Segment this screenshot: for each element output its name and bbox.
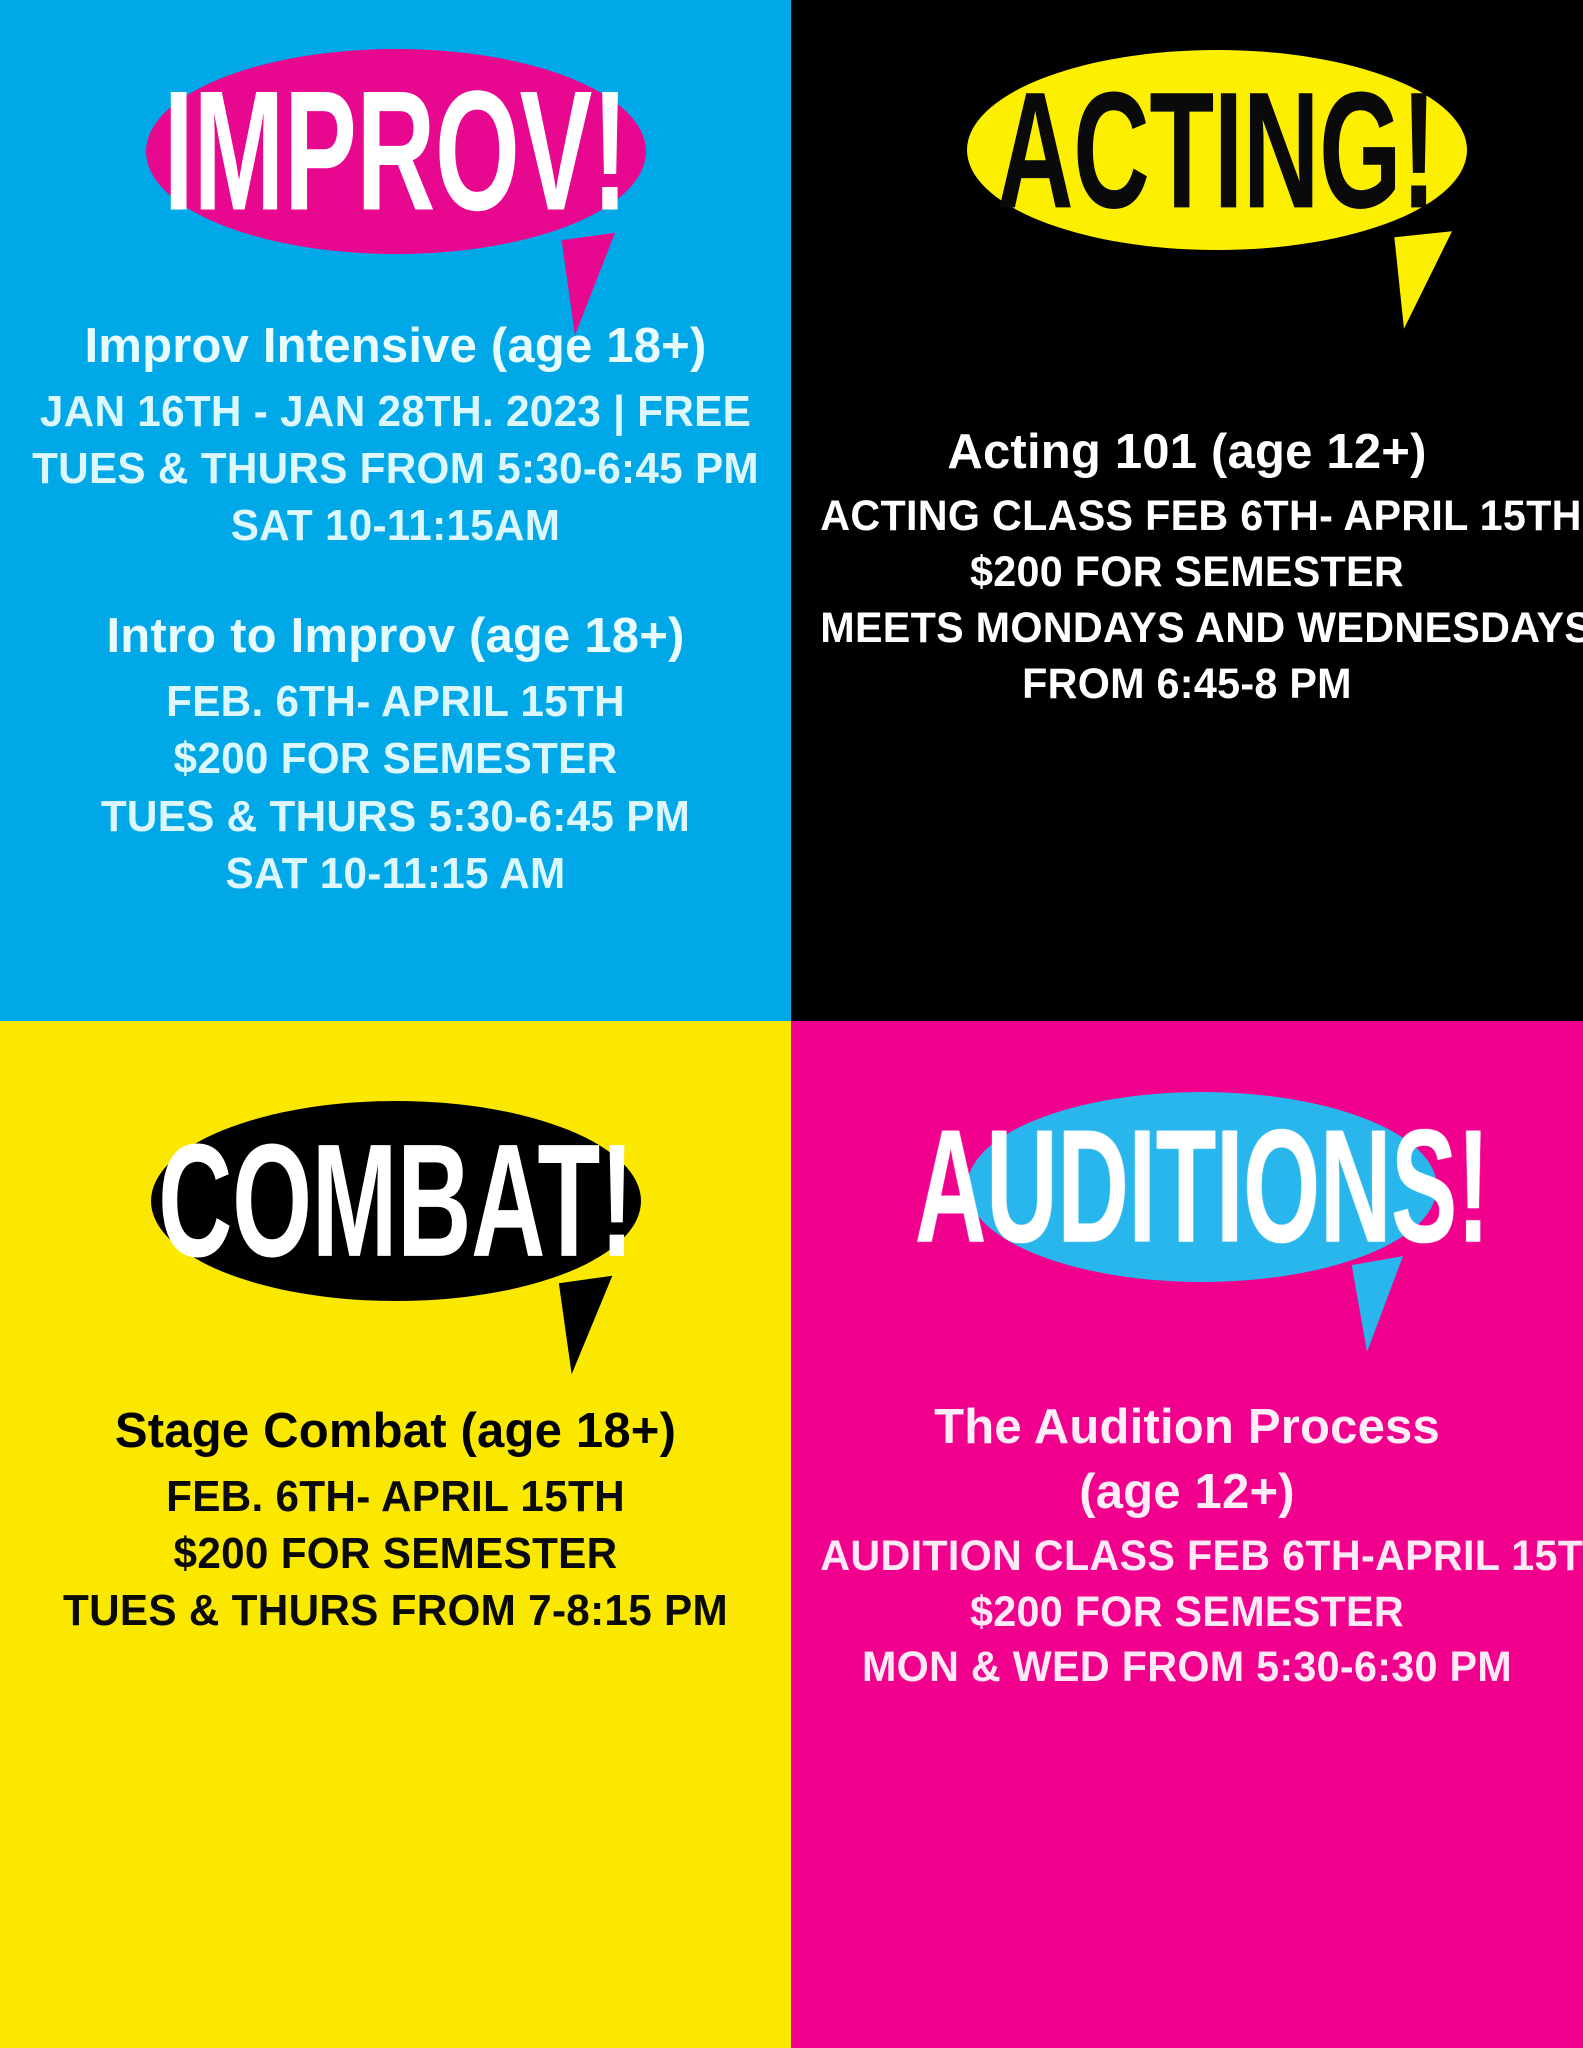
course-detail-line: FEB. 6TH- APRIL 15TH [29,673,761,730]
improv-course-list: Improv Intensive (age 18+) JAN 16TH - JA… [0,318,791,902]
auditions-headline: AUDITIONS! [915,1106,1490,1267]
course-detail-line: TUES & THURS FROM 5:30-6:45 PM [29,440,761,497]
acting-bubble-area: ACTING! [791,30,1583,270]
auditions-bubble-area: AUDITIONS! [791,1067,1583,1307]
course-title: Stage Combat (age 18+) [14,1403,777,1460]
course-improv-intensive: Improv Intensive (age 18+) JAN 16TH - JA… [14,318,777,554]
course-detail-line: ACTING CLASS FEB 6TH- APRIL 15TH [820,489,1553,545]
acting-course-list: Acting 101 (age 12+) ACTING CLASS FEB 6T… [791,424,1583,712]
speech-bubble-tail-icon [1394,231,1461,329]
course-detail-line: AUDITION CLASS FEB 6TH-APRIL 15TH [820,1529,1553,1585]
improv-headline: IMPROV! [163,66,627,237]
combat-headline: COMBAT! [158,1120,634,1281]
course-acting-101: Acting 101 (age 12+) ACTING CLASS FEB 6T… [805,424,1569,712]
course-title: Intro to Improv (age 18+) [14,608,777,665]
course-audition-process: The Audition Process (age 12+) AUDITION … [805,1399,1569,1696]
quadrant-auditions: AUDITIONS! The Audition Process (age 12+… [791,1021,1583,2048]
course-detail-line: SAT 10-11:15 AM [29,845,761,902]
combat-course-list: Stage Combat (age 18+) FEB. 6TH- APRIL 1… [0,1403,791,1639]
course-detail-line: FROM 6:45-8 PM [820,657,1553,713]
course-title: The Audition Process [805,1399,1569,1456]
course-detail-line: SAT 10-11:15AM [29,497,761,554]
quadrant-improv: IMPROV! Improv Intensive (age 18+) JAN 1… [0,0,791,1021]
course-detail-line: $200 FOR SEMESTER [29,1525,761,1582]
speech-bubble-tail-icon [558,1276,624,1375]
improv-bubble-area: IMPROV! [0,36,791,266]
course-detail-line: TUES & THURS 5:30-6:45 PM [29,788,761,845]
course-stage-combat: Stage Combat (age 18+) FEB. 6TH- APRIL 1… [14,1403,777,1639]
quadrant-combat: COMBAT! Stage Combat (age 18+) FEB. 6TH-… [0,1021,791,2048]
course-intro-to-improv: Intro to Improv (age 18+) FEB. 6TH- APRI… [14,608,777,902]
acting-headline: ACTING! [997,67,1436,233]
course-detail-line: $200 FOR SEMESTER [29,730,761,787]
auditions-course-list: The Audition Process (age 12+) AUDITION … [791,1399,1583,1696]
course-detail-line: MEETS MONDAYS AND WEDNESDAYS [820,601,1553,657]
course-detail-line: MON & WED FROM 5:30-6:30 PM [820,1640,1553,1696]
speech-bubble-acting: ACTING! [967,50,1467,250]
course-title-age: (age 12+) [805,1464,1569,1521]
class-schedule-poster: IMPROV! Improv Intensive (age 18+) JAN 1… [0,0,1583,2048]
speech-bubble-auditions: AUDITIONS! [967,1092,1437,1282]
course-detail-line: TUES & THURS FROM 7-8:15 PM [29,1582,761,1639]
quadrant-acting: ACTING! Acting 101 (age 12+) ACTING CLAS… [791,0,1583,1021]
speech-bubble-combat: COMBAT! [151,1101,641,1301]
combat-bubble-area: COMBAT! [0,1081,791,1321]
course-detail-line: $200 FOR SEMESTER [820,545,1553,601]
course-detail-line: JAN 16TH - JAN 28TH. 2023 | FREE [29,383,761,440]
speech-bubble-improv: IMPROV! [146,49,646,254]
course-detail-line: $200 FOR SEMESTER [820,1585,1553,1641]
course-detail-line: FEB. 6TH- APRIL 15TH [29,1468,761,1525]
course-title: Improv Intensive (age 18+) [14,318,777,375]
course-title: Acting 101 (age 12+) [805,424,1569,481]
